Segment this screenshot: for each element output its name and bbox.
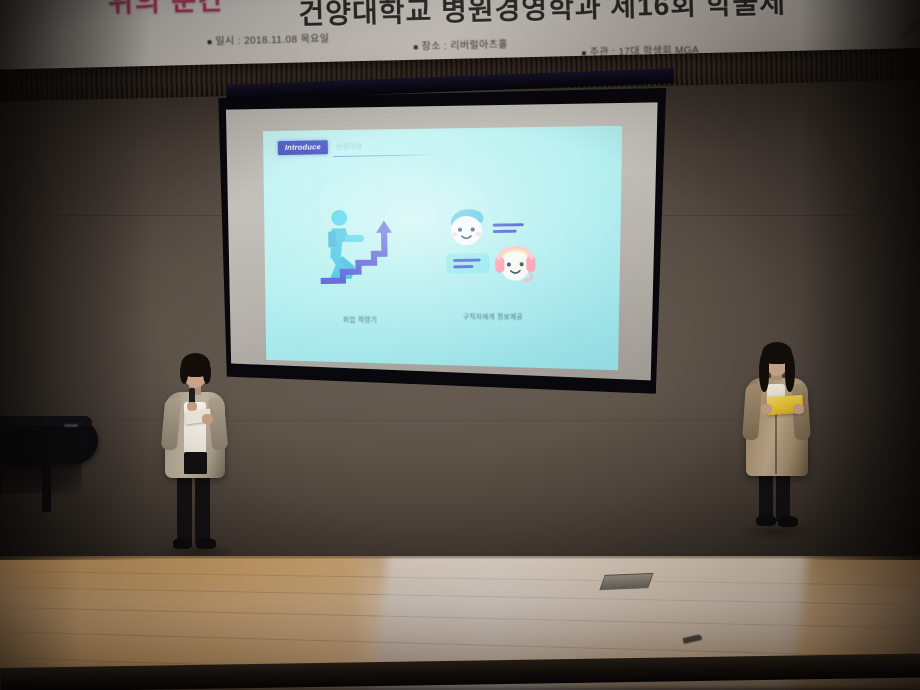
right-shadow-falloff — [800, 0, 920, 560]
slide-header: Introduce 선정이유 — [278, 137, 501, 173]
presenter-shoe-right — [778, 516, 798, 527]
left-shadow-falloff — [0, 0, 150, 560]
projection-screen: Introduce 선정이유 — [216, 88, 668, 400]
presenter-hair-long-left — [759, 352, 769, 392]
presenter-shoe-left — [756, 515, 776, 526]
floor-hatch-panel — [599, 573, 653, 590]
presenter-hand-left — [761, 404, 772, 414]
slide-tab-introduce: Introduce — [278, 140, 328, 155]
presenter-shoe-right — [196, 538, 216, 549]
presenter-hair-side — [203, 362, 211, 384]
presenter-hair-side — [180, 362, 188, 384]
stage-photograph: 위의 순간" 건양대학교 병원경영학과 제16회 학술제 ■일시 : 2018.… — [0, 0, 920, 690]
slide-header-underline — [333, 154, 438, 157]
person-climbing-stairs-icon — [305, 206, 414, 292]
presenter-shoe-left — [173, 538, 192, 549]
slide-caption-right: 구직자에게 정보제공 — [421, 311, 565, 321]
slide-caption-left: 취업 적령기 — [310, 314, 411, 324]
projected-slide: Introduce 선정이유 — [263, 126, 622, 372]
presenter-arm-right — [208, 397, 228, 450]
presenter-hand-right — [202, 414, 213, 424]
job-info-chat-icon — [431, 199, 555, 292]
presenter-hair-long-right — [785, 352, 795, 392]
slide-tab-secondary: 선정이유 — [336, 142, 363, 153]
presenter-waistband — [184, 452, 207, 474]
presenter-left — [158, 348, 236, 556]
